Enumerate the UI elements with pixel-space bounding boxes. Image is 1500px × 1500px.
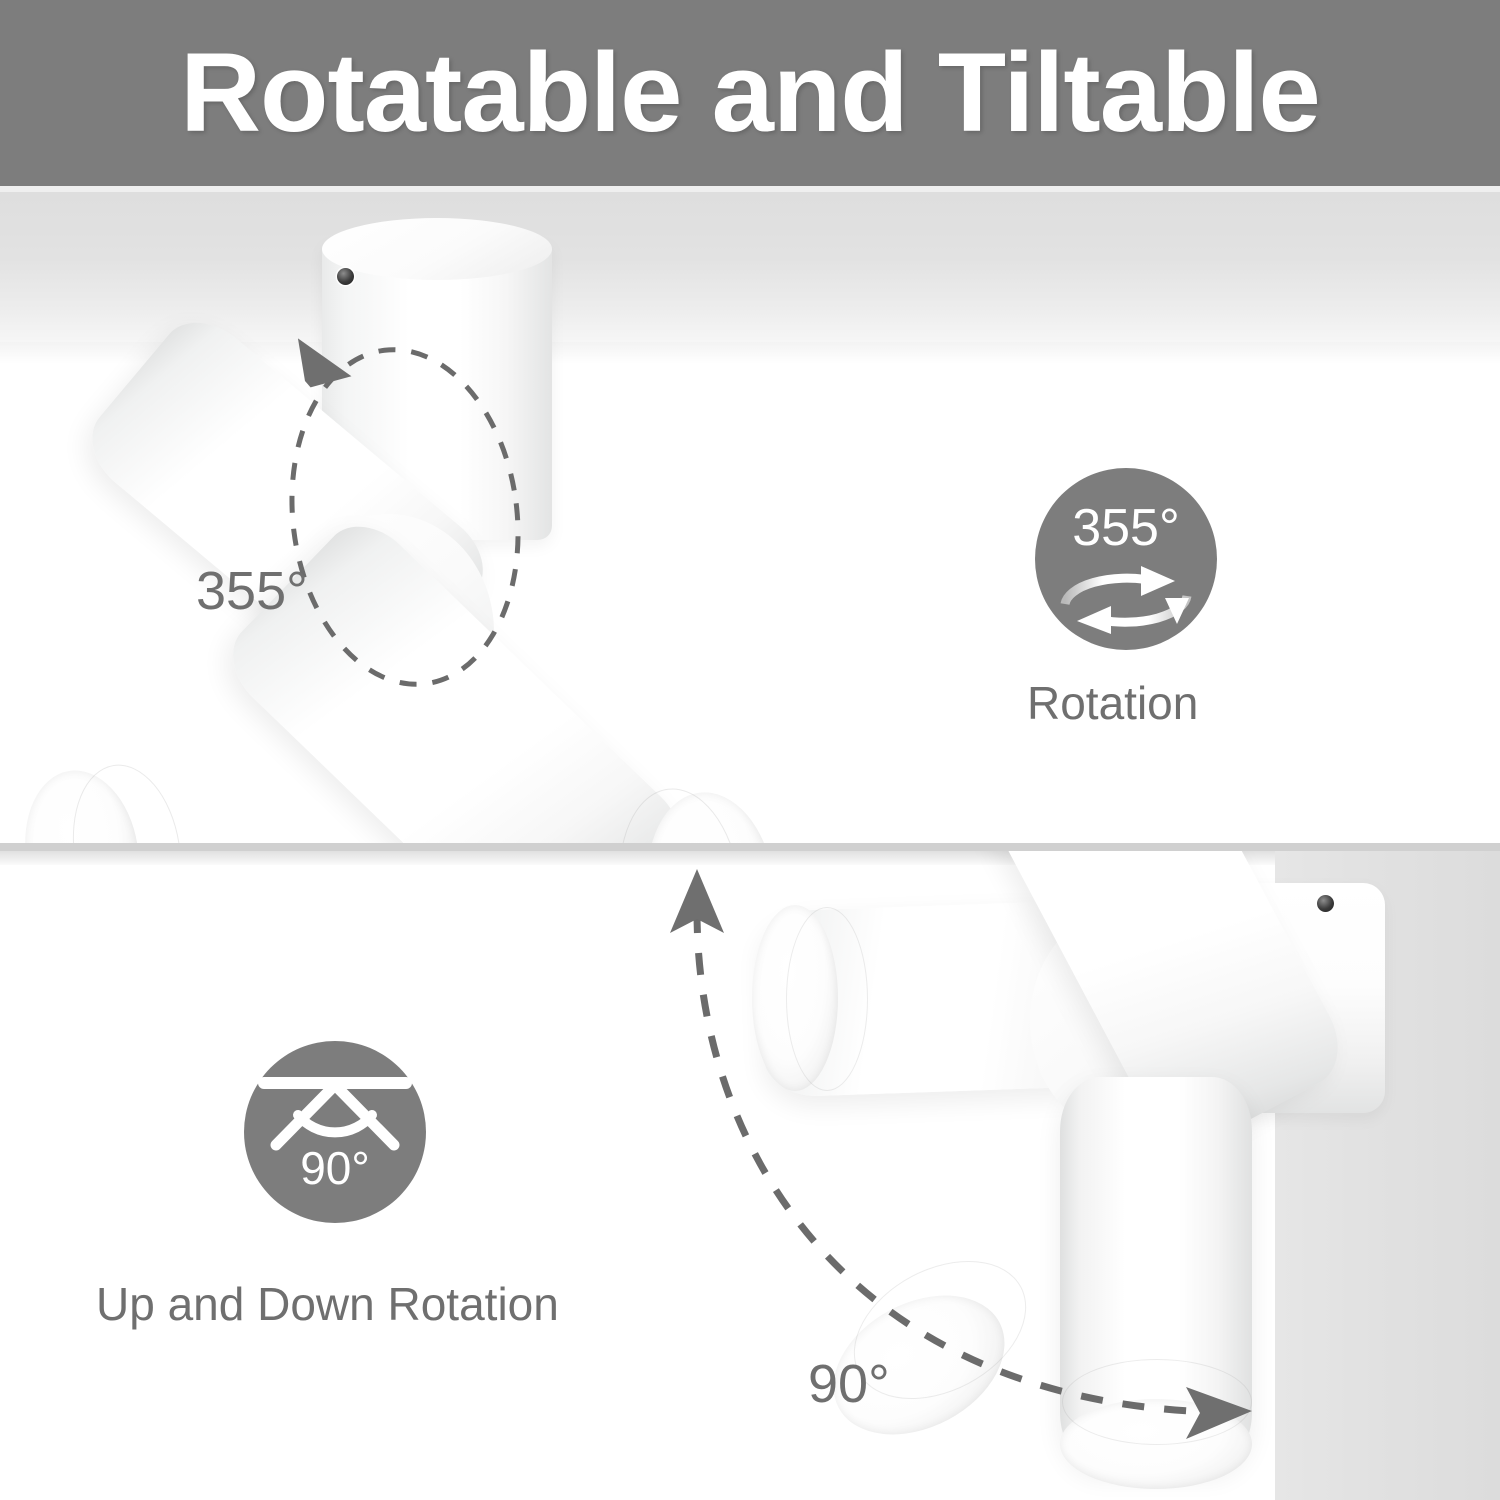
circular-arrows-icon (1053, 564, 1199, 636)
ceiling-surface (0, 192, 1500, 350)
rotation-panel: 355° 355° (0, 192, 1500, 845)
tilt-badge: 90° Up and Down Rotation (244, 1041, 426, 1223)
page-title: Rotatable and Tiltable (0, 0, 1500, 186)
tilt-badge-circle: 90° (244, 1041, 426, 1223)
rotation-badge-circle: 355° (1035, 468, 1217, 650)
tilt-badge-value: 90° (244, 1145, 426, 1191)
spot-head-vertical-ring (1062, 1359, 1252, 1445)
wall-mount-screw-icon (1317, 895, 1334, 912)
ceiling-mount-cap (322, 218, 552, 280)
rotation-badge: 355° (1035, 468, 1217, 650)
rotation-badge-value: 355° (1035, 502, 1217, 554)
mount-screw-icon (337, 268, 354, 285)
tilt-badge-caption: Up and Down Rotation (96, 1277, 559, 1331)
product-infographic: Rotatable and Tiltable 355° 355° (0, 0, 1500, 1500)
rotation-badge-caption: Rotation (1027, 676, 1198, 730)
spot-head-horizontal-ring (786, 907, 868, 1091)
rotation-angle-label: 355° (196, 560, 308, 622)
tilt-angle-label: 90° (808, 1353, 890, 1415)
section-divider (0, 843, 1500, 851)
tilt-panel: 90° 90° Up and Down Rotation (0, 851, 1500, 1500)
